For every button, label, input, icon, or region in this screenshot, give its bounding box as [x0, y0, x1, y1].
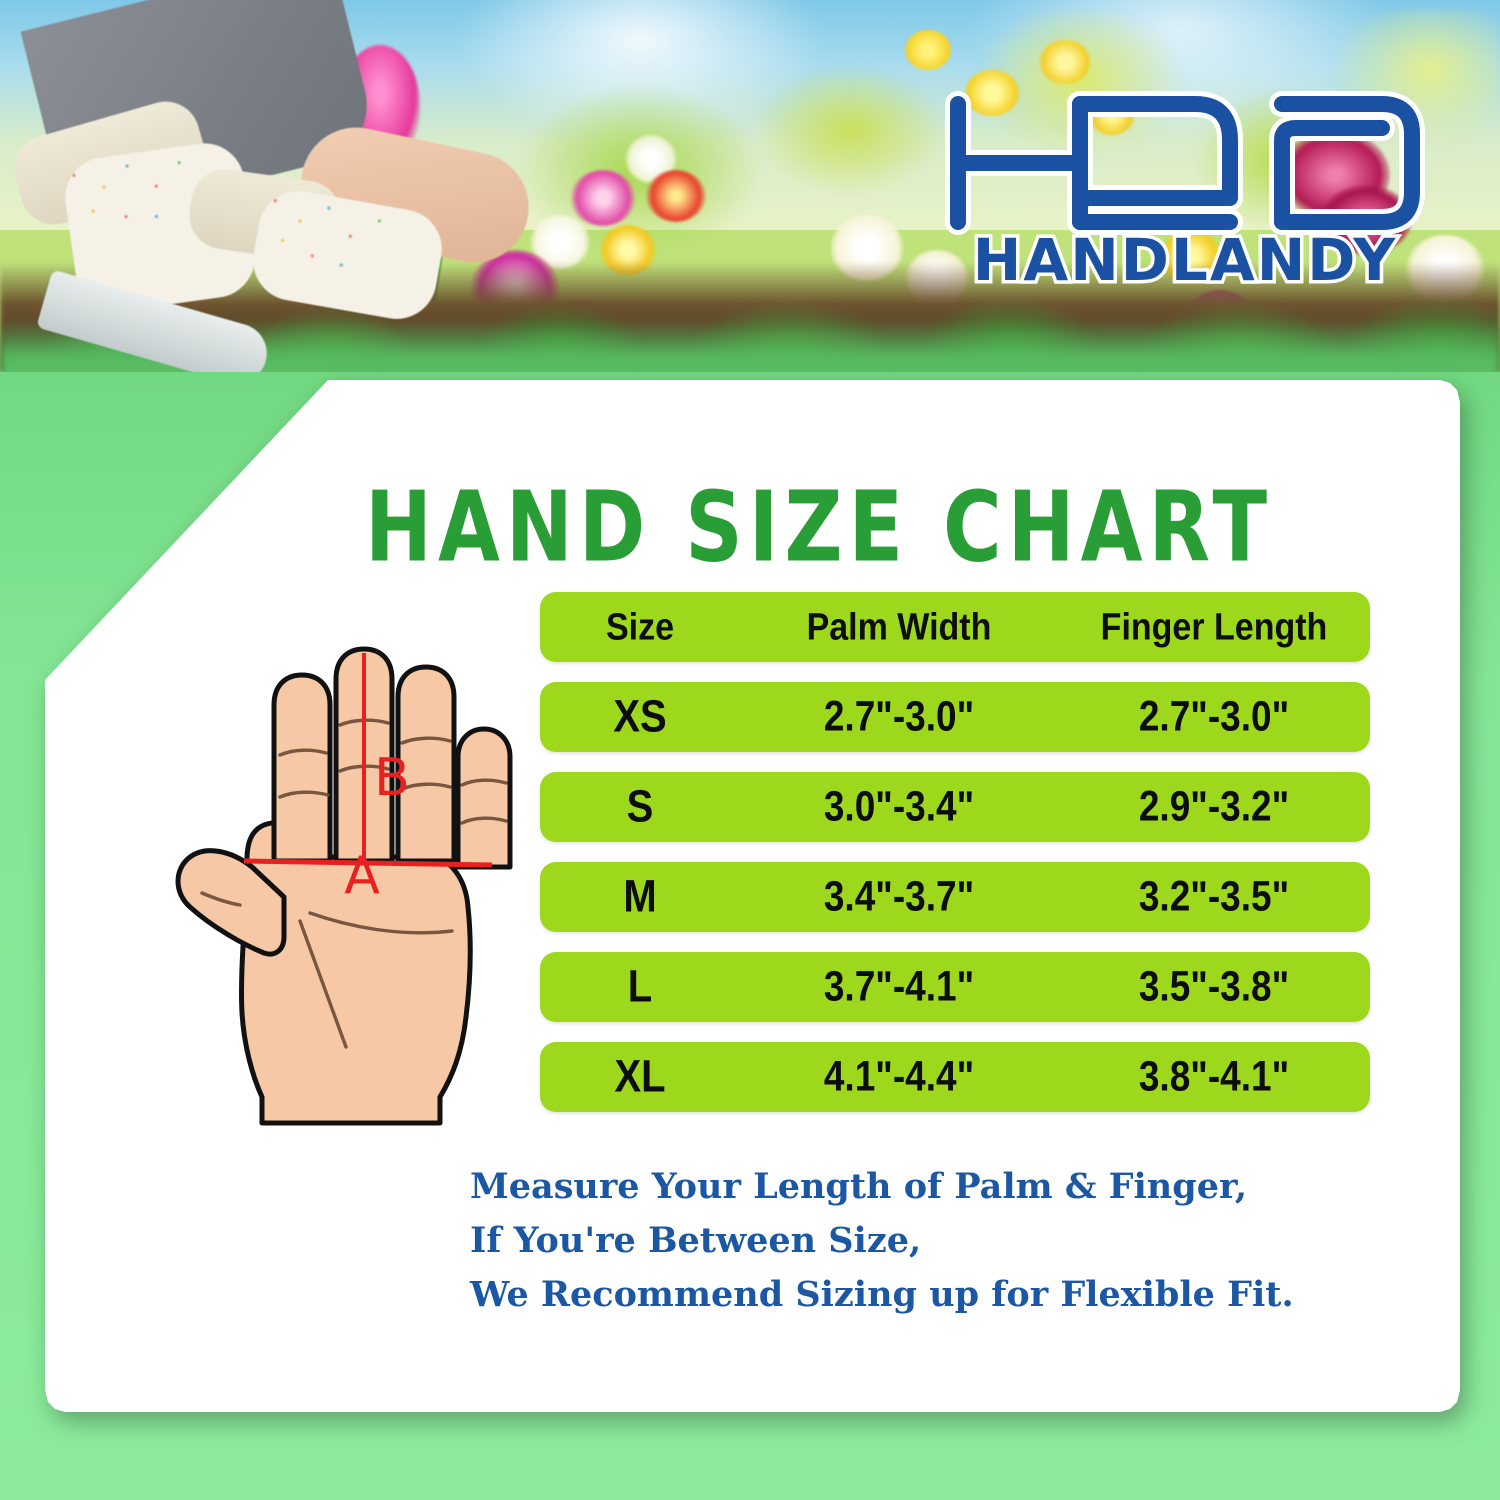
cell-palm-width: 3.7"-4.1" — [740, 963, 1058, 1011]
table-row: S 3.0"-3.4" 2.9"-3.2" — [540, 772, 1370, 842]
cell-finger-length: 2.9"-3.2" — [1058, 783, 1370, 831]
cell-finger-length: 3.2"-3.5" — [1058, 873, 1370, 921]
flower-yellow — [905, 30, 951, 70]
page-title: HAND SIZE CHART — [365, 470, 1273, 583]
table-row: L 3.7"-4.1" 3.5"-3.8" — [540, 952, 1370, 1022]
brand-wordmark: HANDLANDY — [973, 226, 1397, 290]
size-chart-table: Size Palm Width Finger Length XS 2.7"-3.… — [540, 592, 1370, 1132]
cell-palm-width: 3.4"-3.7" — [740, 873, 1058, 921]
table-row: XL 4.1"-4.4" 3.8"-4.1" — [540, 1042, 1370, 1112]
page-background: HANDLANDY HAND SIZE CHART — [0, 0, 1500, 1500]
cell-palm-width: 3.0"-3.4" — [740, 783, 1058, 831]
note-line-3: We Recommend Sizing up for Flexible Fit. — [470, 1268, 1410, 1322]
cell-palm-width: 4.1"-4.4" — [740, 1053, 1058, 1101]
hand-measurement-diagram: A B — [140, 645, 540, 1135]
label-b: B — [374, 748, 410, 808]
cell-size: M — [540, 871, 740, 922]
flower-yellow — [1040, 40, 1090, 84]
sizing-note: Measure Your Length of Palm & Finger, If… — [470, 1160, 1410, 1322]
table-header-row: Size Palm Width Finger Length — [540, 592, 1370, 662]
cell-finger-length: 3.8"-4.1" — [1058, 1053, 1370, 1101]
column-header-size: Size — [540, 605, 740, 649]
column-header-finger-length: Finger Length — [1058, 605, 1370, 649]
brand-logo: HANDLANDY — [930, 80, 1440, 290]
note-line-1: Measure Your Length of Palm & Finger, — [470, 1160, 1410, 1214]
cell-size: S — [540, 781, 740, 832]
cell-size: XL — [540, 1051, 740, 1102]
cell-finger-length: 3.5"-3.8" — [1058, 963, 1370, 1011]
cell-size: XS — [540, 691, 740, 742]
table-row: M 3.4"-3.7" 3.2"-3.5" — [540, 862, 1370, 932]
table-row: XS 2.7"-3.0" 2.7"-3.0" — [540, 682, 1370, 752]
label-a: A — [344, 846, 380, 906]
cell-size: L — [540, 961, 740, 1012]
size-chart-card: HAND SIZE CHART — [45, 380, 1460, 1412]
hero-banner-photo: HANDLANDY — [0, 0, 1500, 372]
note-line-2: If You're Between Size, — [470, 1214, 1410, 1268]
cell-finger-length: 2.7"-3.0" — [1058, 693, 1370, 741]
cell-palm-width: 2.7"-3.0" — [740, 693, 1058, 741]
column-header-palm-width: Palm Width — [740, 605, 1058, 649]
